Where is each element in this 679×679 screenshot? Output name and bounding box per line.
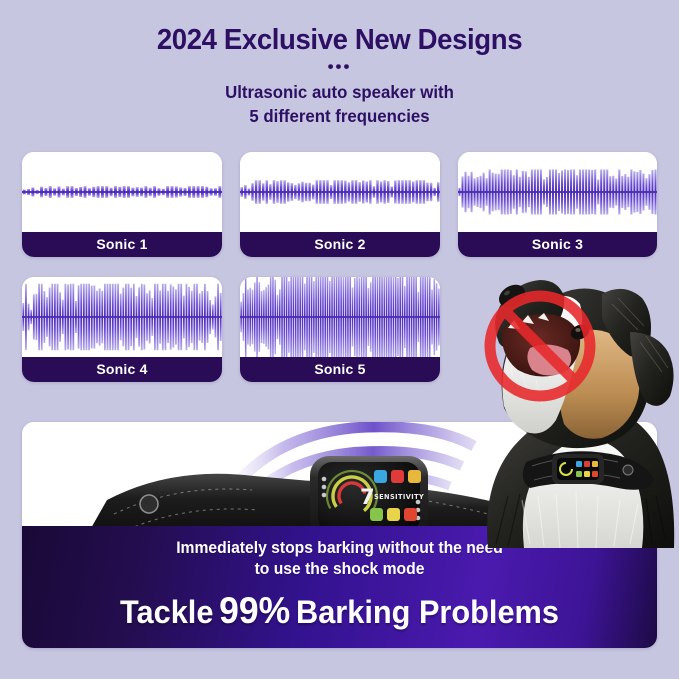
waveform-1: [22, 152, 222, 232]
waveform-2: [240, 152, 440, 232]
page-title: 2024 Exclusive New Designs: [17, 24, 662, 57]
tackle-percent: 99%: [213, 590, 296, 631]
claim-banner: Immediately stops barking without the ne…: [22, 526, 657, 648]
sonic-card-3: Sonic 3: [458, 152, 657, 257]
header-block: 2024 Exclusive New Designs ••• Ultrasoni…: [0, 0, 679, 128]
sonic-label-4: Sonic 4: [22, 357, 222, 382]
no-barking-icon: [490, 296, 590, 396]
waveform-5: [240, 277, 440, 357]
sonic-card-5: Sonic 5: [240, 277, 440, 382]
svg-text:SENSITIVITY: SENSITIVITY: [374, 493, 424, 501]
sonic-card-2: Sonic 2: [240, 152, 440, 257]
sonic-label-3: Sonic 3: [458, 232, 657, 257]
sonic-label-2: Sonic 2: [240, 232, 440, 257]
sonic-card-4: Sonic 4: [22, 277, 222, 382]
claim-line-2: to use the shock mode: [38, 559, 641, 580]
svg-text:7: 7: [360, 485, 375, 509]
claim-line-1: Immediately stops barking without the ne…: [38, 538, 641, 559]
waveform-3: [458, 152, 657, 232]
subtitle-line-2: 5 different frequencies: [14, 104, 666, 128]
sonic-label-1: Sonic 1: [22, 232, 222, 257]
tackle-suffix: Barking Problems: [296, 594, 559, 630]
subtitle-line-1: Ultrasonic auto speaker with: [14, 80, 666, 104]
tackle-prefix: Tackle: [120, 594, 213, 630]
dots-separator: •••: [0, 61, 679, 73]
product-photo: 7 SENSITIVITY: [22, 422, 657, 526]
sonic-label-5: Sonic 5: [240, 357, 440, 382]
product-card: 7 SENSITIVITY Immediately stops barking …: [22, 422, 657, 648]
tackle-headline: Tackle99%Barking Problems: [35, 591, 645, 632]
sonic-card-1: Sonic 1: [22, 152, 222, 257]
waveform-4: [22, 277, 222, 357]
